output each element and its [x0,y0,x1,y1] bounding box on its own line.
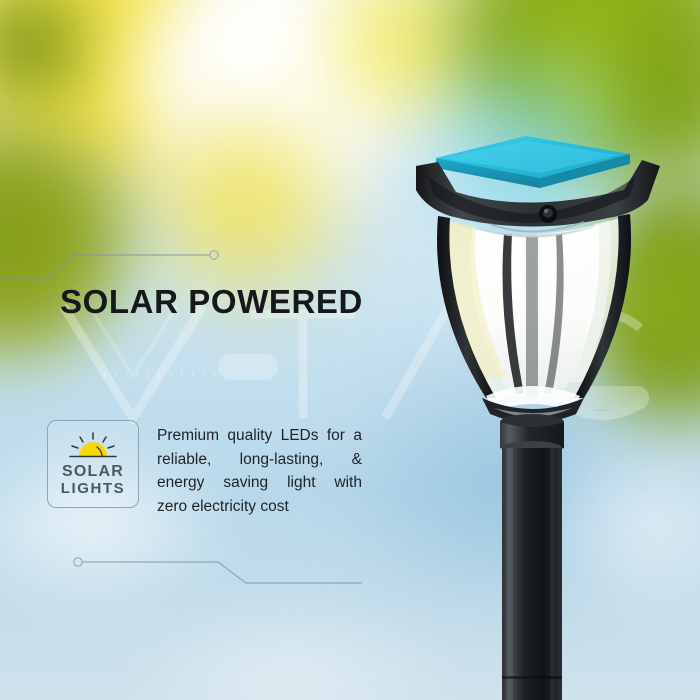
feature-description: Premium quality LEDs for a reliable, lon… [157,424,362,518]
sun-icon [64,432,122,462]
solar-garden-lantern [398,96,668,700]
product-banner: SOLAR POWERED SOLAR LIGHTS Premium [0,0,700,700]
feature-row: SOLAR LIGHTS Premium quality LEDs for a … [47,420,362,518]
badge-line-1: SOLAR [62,463,124,481]
badge-line-2: LIGHTS [61,480,126,498]
lamp-post [502,441,562,700]
lamp-diffuser [437,214,631,423]
solar-lights-badge: SOLAR LIGHTS [47,420,139,508]
feature-line-4: zero electricity cost [157,495,362,519]
solar-panel [436,136,630,188]
feature-line-1: Premium quality LEDs for a [157,424,362,448]
feature-line-2: reliable, long-lasting, & [157,448,362,472]
feature-line-3: energy saving light with [157,471,362,495]
page-title: SOLAR POWERED [60,283,363,321]
